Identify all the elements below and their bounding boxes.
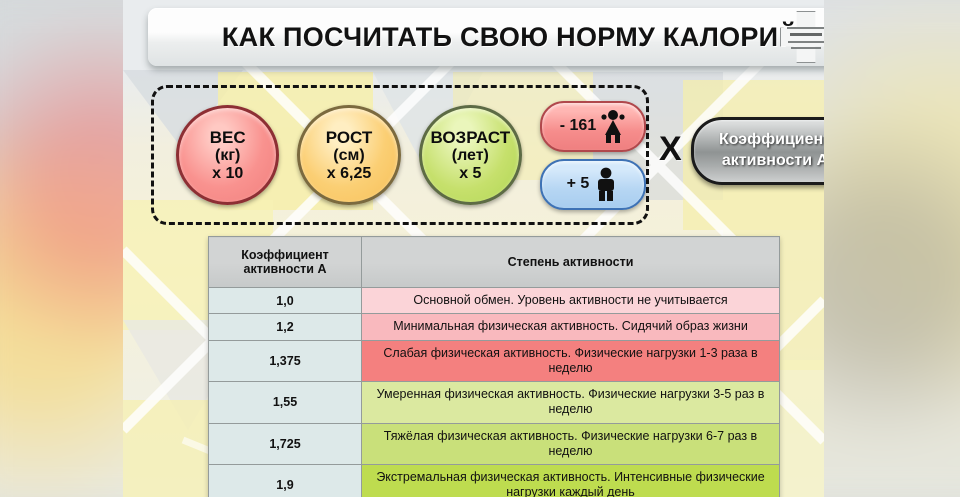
cell-coefficient: 1,2 bbox=[209, 314, 362, 340]
table-row: 1,375Слабая физическая активность. Физич… bbox=[209, 340, 780, 382]
table-row: 1,9Экстремальная физическая активность. … bbox=[209, 465, 780, 497]
cell-activity-description: Минимальная физическая активность. Сидяч… bbox=[362, 314, 780, 340]
table-header-row: Коэффициент активности А Степень активно… bbox=[209, 237, 780, 288]
pill-height-factor: х 6,25 bbox=[327, 165, 371, 183]
cell-activity-description: Слабая физическая активность. Физические… bbox=[362, 340, 780, 382]
table-row: 1,0Основной обмен. Уровень активности не… bbox=[209, 288, 780, 314]
female-icon bbox=[600, 109, 626, 143]
activity-coefficient-table: Коэффициент активности А Степень активно… bbox=[208, 236, 780, 497]
formula-pill-age: ВОЗРАСТ (лет) х 5 bbox=[419, 105, 522, 205]
header-coefficient-line2: активности А bbox=[244, 262, 327, 276]
gender-pill-female: - 161 bbox=[540, 101, 646, 152]
coefficient-badge-line2: активности А bbox=[722, 151, 824, 172]
table-row: 1,55Умеренная физическая активность. Физ… bbox=[209, 382, 780, 424]
cell-coefficient: 1,9 bbox=[209, 465, 362, 497]
female-offset-value: - 161 bbox=[560, 117, 596, 135]
cell-coefficient: 1,0 bbox=[209, 288, 362, 314]
cell-activity-description: Умеренная физическая активность. Физичес… bbox=[362, 382, 780, 424]
table-row: 1,725Тяжёлая физическая активность. Физи… bbox=[209, 423, 780, 465]
header-coefficient-line1: Коэффициент bbox=[241, 248, 329, 262]
page-title: КАК ПОСЧИТАТЬ СВОЮ НОРМУ КАЛОРИЙ bbox=[148, 22, 824, 53]
gender-adjustment-group: - 161 + 5 bbox=[540, 101, 646, 210]
pill-weight-title: ВЕС bbox=[210, 128, 246, 147]
title-bar: КАК ПОСЧИТАТЬ СВОЮ НОРМУ КАЛОРИЙ bbox=[148, 8, 824, 66]
pill-age-title: ВОЗРАСТ bbox=[430, 128, 510, 147]
male-icon bbox=[593, 167, 619, 201]
pill-age-factor: х 5 bbox=[459, 165, 481, 183]
pill-height-unit: (см) bbox=[333, 147, 364, 165]
pill-weight-unit: (кг) bbox=[215, 147, 240, 165]
pill-age-unit: (лет) bbox=[452, 147, 489, 165]
male-offset-value: + 5 bbox=[567, 175, 590, 193]
pill-height-title: РОСТ bbox=[326, 128, 373, 147]
cell-coefficient: 1,55 bbox=[209, 382, 362, 424]
medical-cross-logo bbox=[780, 11, 824, 63]
cell-coefficient: 1,375 bbox=[209, 340, 362, 382]
cell-activity-description: Экстремальная физическая активность. Инт… bbox=[362, 465, 780, 497]
main-artboard: КАК ПОСЧИТАТЬ СВОЮ НОРМУ КАЛОРИЙ ВЕС (кг… bbox=[123, 0, 824, 497]
header-activity-level: Степень активности bbox=[362, 237, 780, 288]
formula-pill-height: РОСТ (см) х 6,25 bbox=[297, 105, 400, 205]
multiply-symbol: Х bbox=[659, 130, 682, 169]
infographic-canvas: КАК ПОСЧИТАТЬ СВОЮ НОРМУ КАЛОРИЙ ВЕС (кг… bbox=[0, 0, 960, 497]
cell-coefficient: 1,725 bbox=[209, 423, 362, 465]
pill-weight-factor: х 10 bbox=[212, 165, 243, 183]
header-coefficient: Коэффициент активности А bbox=[209, 237, 362, 288]
coefficient-badge-line1: Коэффициент bbox=[719, 130, 824, 151]
blurred-right-letterbox bbox=[824, 0, 960, 497]
table-row: 1,2Минимальная физическая активность. Си… bbox=[209, 314, 780, 340]
blurred-left-letterbox bbox=[0, 0, 123, 497]
cell-activity-description: Основной обмен. Уровень активности не уч… bbox=[362, 288, 780, 314]
coefficient-badge: Коэффициент активности А bbox=[691, 117, 824, 185]
formula-pill-weight: ВЕС (кг) х 10 bbox=[176, 105, 279, 205]
gender-pill-male: + 5 bbox=[540, 159, 646, 210]
cell-activity-description: Тяжёлая физическая активность. Физически… bbox=[362, 423, 780, 465]
formula-frame: ВЕС (кг) х 10 РОСТ (см) х 6,25 ВОЗРАСТ (… bbox=[151, 85, 649, 225]
